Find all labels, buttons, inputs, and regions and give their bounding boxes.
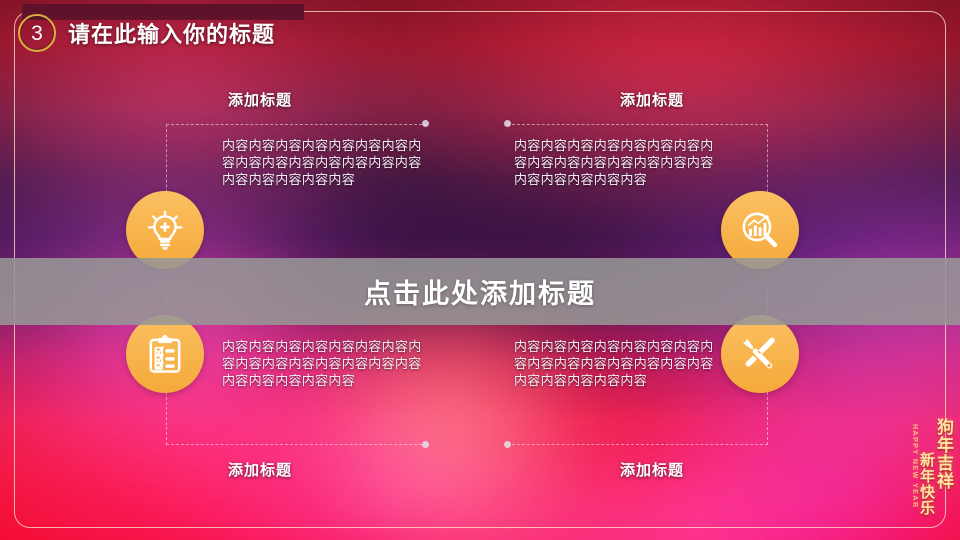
watermark-english: HAPPY NEW YEAR [911,424,918,509]
connector-dot-bottom-right [504,441,511,448]
section-body-bottom-right[interactable]: 内容内容内容内容内容内容内容内容内容内容内容内容内容内容内容内容内容内容内容内容 [514,338,719,389]
connector-dot-bottom-left [422,441,429,448]
new-year-watermark: 狗年吉祥 新年快乐 HAPPY NEW YEAR [890,418,952,526]
section-body-top-left[interactable]: 内容内容内容内容内容内容内容内容内容内容内容内容内容内容内容内容内容内容内容内容 [222,137,427,188]
section-title-bottom-right[interactable]: 添加标题 [620,459,684,480]
lightbulb-plus-icon [144,209,186,251]
icon-badge-bottom-right[interactable] [721,315,799,393]
page-title[interactable]: 请在此输入你的标题 [68,17,275,49]
slide-canvas: 3 请在此输入你的标题 [0,0,960,540]
section-title-top-left[interactable]: 添加标题 [228,89,292,110]
connector-dot-top-right [504,120,511,127]
watermark-line-2: 新年快乐 [919,452,934,516]
icon-badge-bottom-left[interactable] [126,315,204,393]
section-body-bottom-left[interactable]: 内容内容内容内容内容内容内容内容内容内容内容内容内容内容内容内容内容内容内容内容 [222,338,427,389]
center-banner[interactable]: 点击此处添加标题 [0,258,960,325]
clipboard-checklist-icon [145,334,185,374]
watermark-line-1: 狗年吉祥 [935,418,952,490]
center-banner-text: 点击此处添加标题 [364,272,596,311]
connector-dot-top-left [422,120,429,127]
chart-magnifier-icon [739,209,781,251]
section-title-top-right[interactable]: 添加标题 [620,89,684,110]
section-body-top-right[interactable]: 内容内容内容内容内容内容内容内容内容内容内容内容内容内容内容内容内容内容内容内容 [514,137,719,188]
wrench-screwdriver-icon [739,333,781,375]
slide-header: 3 请在此输入你的标题 [18,14,275,52]
section-title-bottom-left[interactable]: 添加标题 [228,459,292,480]
slide-number-badge: 3 [18,14,56,52]
